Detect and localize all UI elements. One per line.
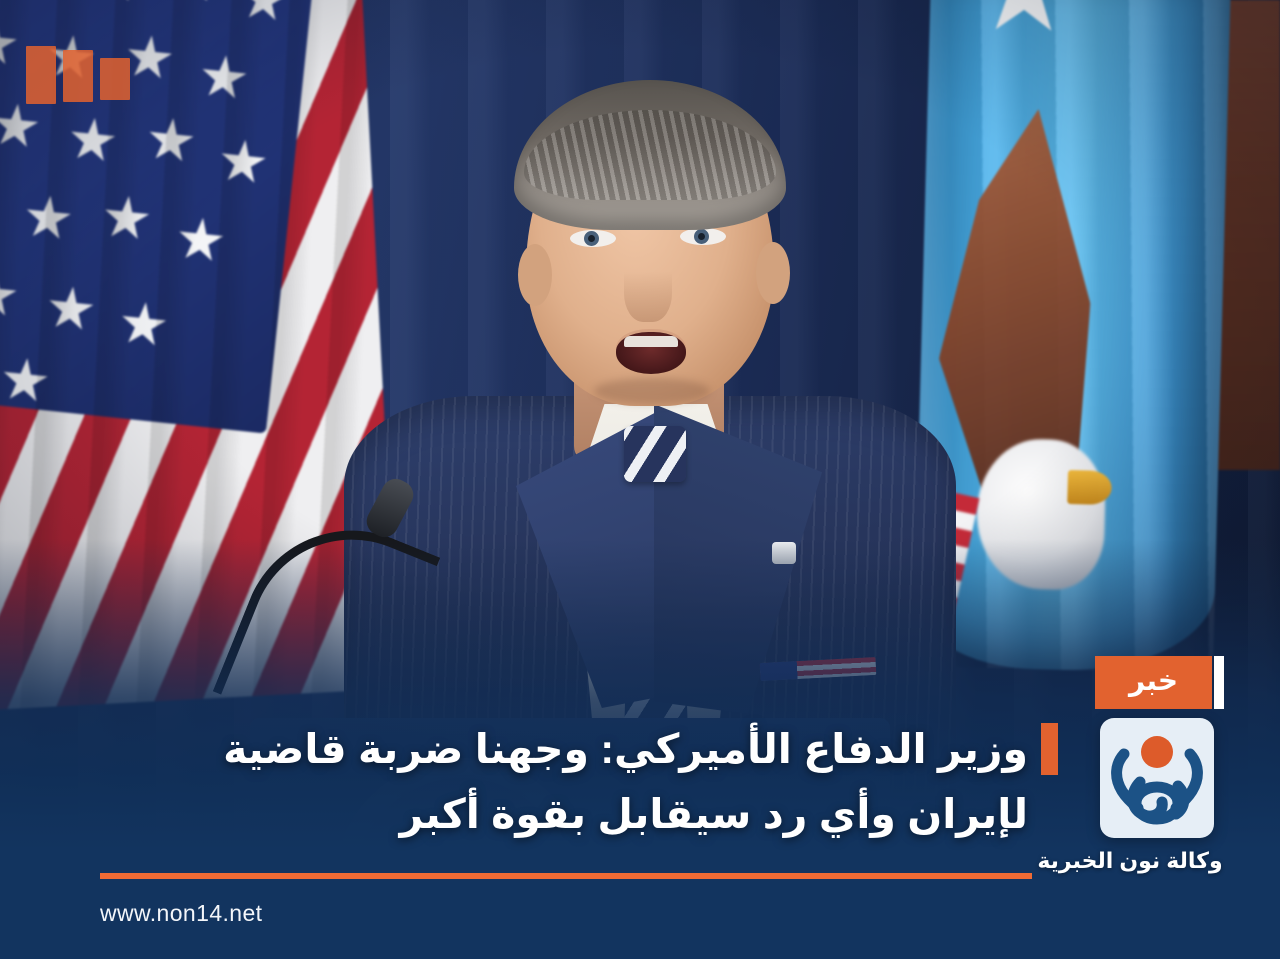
news-badge: خبر [1095,656,1224,709]
headline-accent-bar [1041,723,1058,775]
news-card: وزير الدفاع الأميركي: وجهنا ضربة قاضية ل… [0,0,1280,959]
headline: وزير الدفاع الأميركي: وجهنا ضربة قاضية ل… [68,717,1028,847]
brand-name: وكالة نون الخبرية [1010,848,1250,874]
news-badge-label: خبر [1095,656,1212,709]
headline-line-1: وزير الدفاع الأميركي: وجهنا ضربة قاضية [68,717,1028,782]
three-bars-watermark-icon [26,46,130,104]
noon-letter-logo-icon [1100,718,1214,838]
site-url: www.non14.net [100,900,262,927]
news-badge-tick [1214,656,1224,709]
footer-divider [100,873,1032,879]
brand-logo [1100,718,1214,838]
headline-line-2: لإيران وأي رد سيقابل بقوة أكبر [68,782,1028,847]
